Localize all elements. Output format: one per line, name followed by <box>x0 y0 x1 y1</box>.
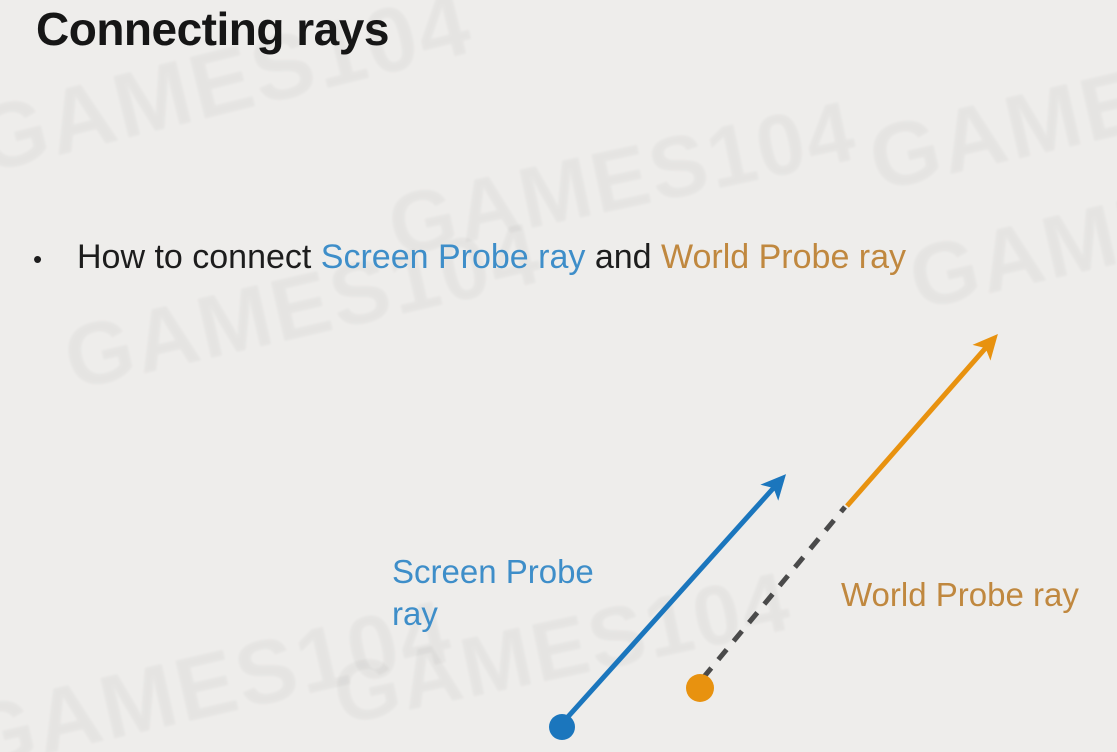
world-probe-ray-arrow <box>847 343 990 506</box>
bullet-text: How to connect Screen Probe ray and Worl… <box>77 238 906 277</box>
bullet-text-screen-probe: Screen Probe ray <box>321 238 586 276</box>
screen-probe-origin-dot <box>549 714 575 740</box>
bullet-marker-icon: • <box>33 246 77 272</box>
bullet-list-item: • How to connect Screen Probe ray and Wo… <box>33 238 906 277</box>
screen-probe-ray-label: Screen Probe ray <box>392 551 627 635</box>
bullet-text-world-probe: World Probe ray <box>661 238 906 276</box>
world-probe-ray-label: World Probe ray <box>841 574 1079 616</box>
bullet-text-lead: How to connect <box>77 238 321 276</box>
ray-connection-diagram <box>0 0 1117 752</box>
bullet-text-conjunction: and <box>585 238 661 276</box>
page-title: Connecting rays <box>36 2 389 56</box>
connector-dashed-line <box>703 507 845 678</box>
world-probe-origin-dot <box>686 674 714 702</box>
